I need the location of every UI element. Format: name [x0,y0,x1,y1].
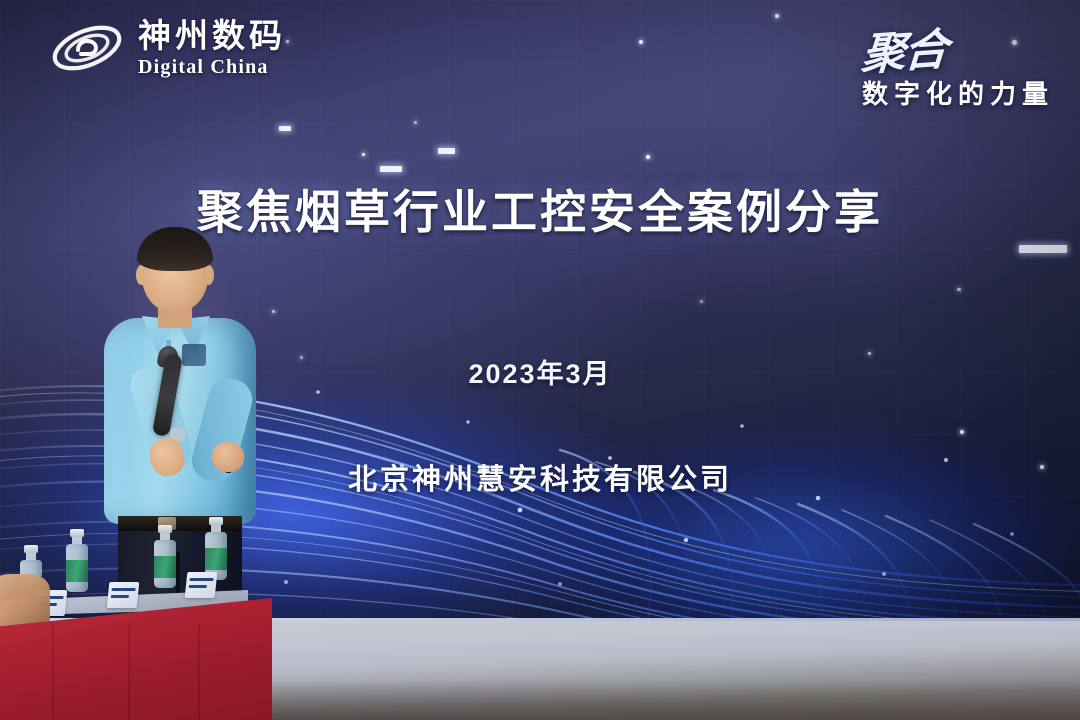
water-bottle [205,518,227,580]
stage-photo: 神州数码 Digital China 聚合 数字化的力量 聚焦烟草行业工控安全案… [0,0,1080,720]
brand-name-cn: 神州数码 [138,19,286,52]
polo-chest-logo-icon [182,344,206,366]
event-calligraphy: 聚合 [859,13,948,83]
brand-name-en: Digital China [138,57,286,77]
water-bottle [66,530,88,592]
water-bottle [154,526,176,588]
speaker-person [96,232,264,628]
seated-attendee [0,574,50,628]
digital-china-logo: 神州数码 Digital China [48,18,286,78]
swirl-galaxy-logo-icon [48,18,126,78]
foreground-table [0,574,272,720]
name-card [107,582,140,608]
event-logo: 聚合 数字化的力量 [862,16,1054,111]
name-card [185,572,218,598]
